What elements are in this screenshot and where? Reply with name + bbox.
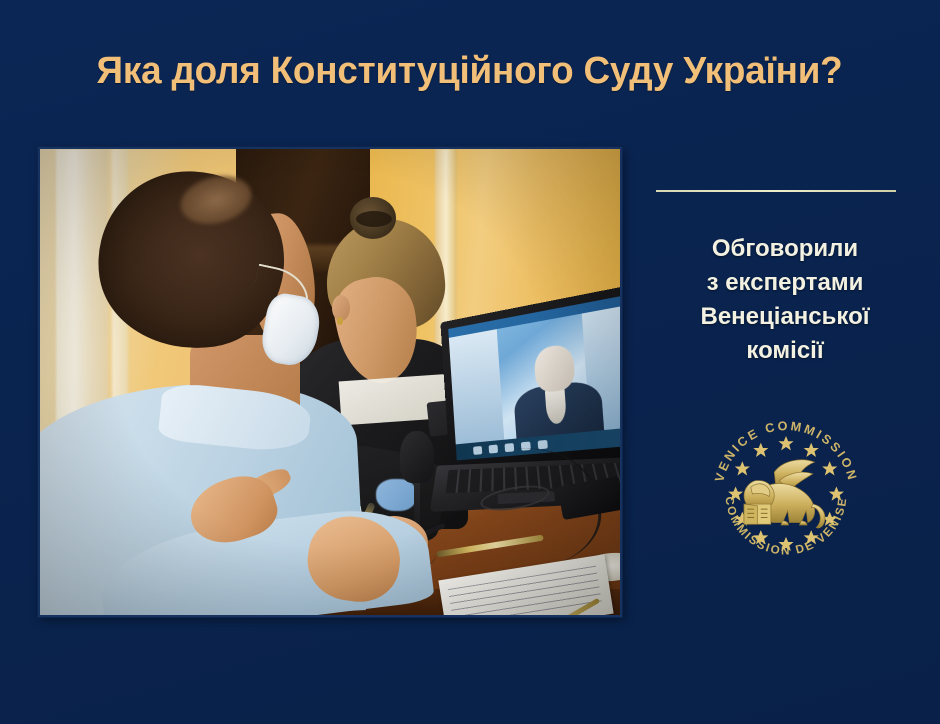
title-bar: Яка доля Конституційного Суду України? — [0, 40, 940, 102]
call-background-left — [449, 329, 504, 444]
woman-earring — [337, 317, 343, 325]
venice-commission-logo: VENICE COMMISSION COMMISSION DE VENISE — [702, 410, 870, 578]
woman-hair-tie — [356, 211, 392, 227]
caption-line-4: комісії — [640, 334, 930, 368]
conference-photo — [40, 149, 620, 615]
call-control-5 — [538, 440, 548, 449]
page-title: Яка доля Конституційного Суду України? — [97, 50, 843, 93]
poster-canvas: Яка доля Конституційного Суду України? — [0, 0, 940, 724]
laptop-screen — [448, 294, 620, 461]
caption-block: Обговорили з експертами Венеціанської ко… — [640, 232, 930, 368]
caption-line-2: з експертами — [640, 266, 930, 300]
divider-rule — [656, 190, 896, 192]
blue-cloth — [376, 479, 416, 511]
microphone-head — [400, 431, 434, 483]
right-column: Обговорили з експертами Венеціанської ко… — [640, 160, 930, 620]
photo-frame — [38, 147, 622, 617]
winged-lion-icon — [744, 460, 825, 528]
caption-line-3: Венеціанської — [640, 300, 930, 334]
caption-line-1: Обговорили — [640, 232, 930, 266]
